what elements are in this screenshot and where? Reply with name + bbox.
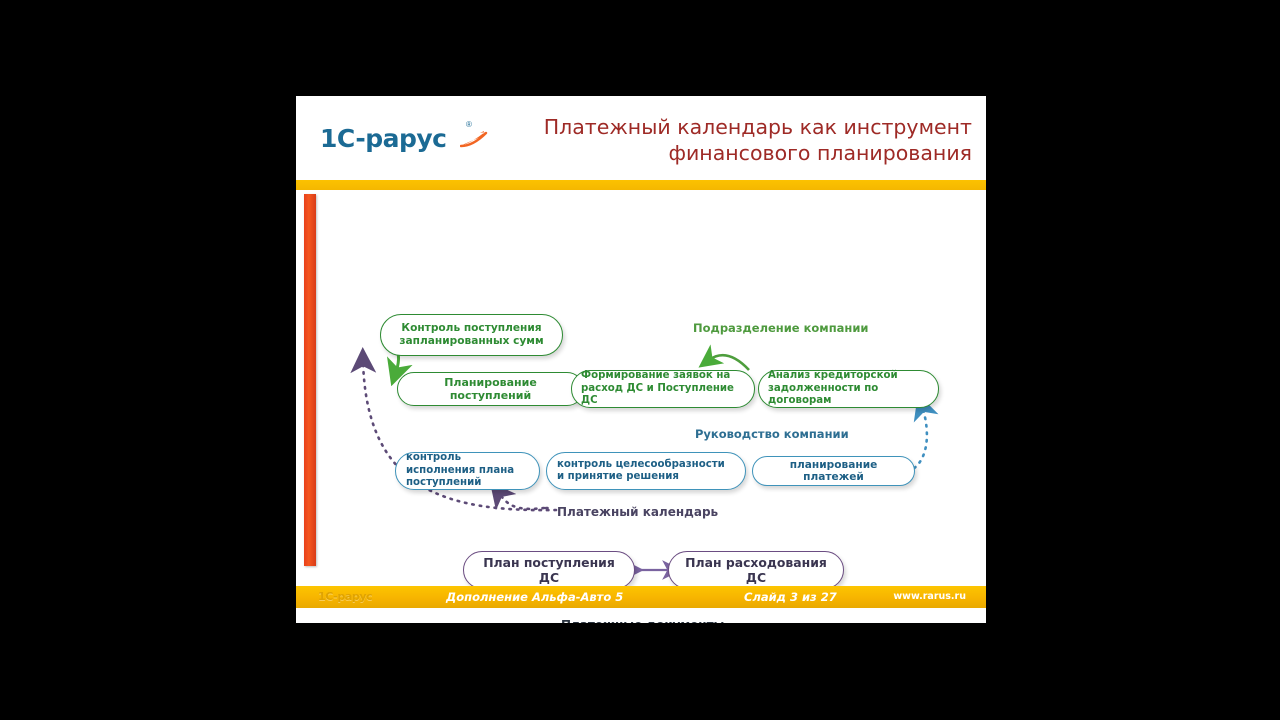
flow-diagram: Подразделение компании Руководство компа…	[296, 190, 986, 594]
group-label-subdivision: Подразделение компании	[693, 321, 868, 335]
logo-wordmark: 1C-рарус	[320, 124, 446, 153]
connector-green-left	[709, 355, 749, 370]
node-analysis-creditor-debt[interactable]: Анализ кредиторской задолженности по дог…	[758, 370, 939, 408]
node-label: контроль исполнения плана поступлений	[406, 452, 529, 490]
node-planning-receipts[interactable]: Планирование поступлений	[397, 372, 584, 406]
connector-purple-down	[498, 492, 544, 509]
node-label: План поступления ДС	[474, 555, 624, 585]
node-control-expediency[interactable]: контроль целесообразности и принятие реш…	[546, 452, 746, 490]
group-label-payment-calendar: Платежный календарь	[557, 505, 718, 519]
node-control-receipt-planned-sums[interactable]: Контроль поступления запланированных сум…	[380, 314, 563, 356]
footer-logo: 1C-рарус	[318, 590, 372, 603]
node-label: контроль целесообразности и принятие реш…	[557, 459, 735, 484]
footer-course-title: Дополнение Альфа-Авто 5	[446, 590, 623, 604]
node-planning-payments[interactable]: планирование платежей	[752, 456, 915, 486]
logo-registered-mark: ®	[466, 120, 472, 129]
node-plan-spending-ds[interactable]: План расходования ДС	[668, 551, 844, 589]
node-label: Планирование поступлений	[408, 376, 573, 402]
header-accent-bar	[296, 180, 986, 190]
logo-swoosh-icon	[460, 130, 488, 148]
video-stage: 1C-рарус ® Платежный календарь как инстр…	[0, 0, 1280, 720]
footer-url: www.rarus.ru	[893, 591, 966, 602]
rarus-logo: 1C-рарус ®	[318, 118, 493, 162]
page-title: Платежный календарь как инструмент финан…	[502, 114, 972, 166]
footer-slide-counter: Слайд 3 из 27	[744, 590, 837, 604]
group-label-management: Руководство компании	[695, 427, 849, 441]
node-label: планирование платежей	[763, 459, 904, 483]
node-label: Формирование заявок на расход ДС и Посту…	[581, 370, 745, 408]
presentation-slide: 1C-рарус ® Платежный календарь как инстр…	[296, 96, 986, 623]
group-label-payment-documents: Платежные документы	[561, 618, 724, 623]
node-plan-receipt-ds[interactable]: План поступления ДС	[463, 551, 635, 589]
node-control-plan-execution[interactable]: контроль исполнения плана поступлений	[395, 452, 540, 490]
slide-header: 1C-рарус ® Платежный календарь как инстр…	[296, 96, 986, 180]
node-label: План расходования ДС	[679, 555, 833, 585]
slide-footer: 1C-рарус Дополнение Альфа-Авто 5 Слайд 3…	[296, 586, 986, 608]
node-label: Анализ кредиторской задолженности по дог…	[768, 370, 929, 408]
node-forming-requests[interactable]: Формирование заявок на расход ДС и Посту…	[571, 370, 755, 408]
node-label: Контроль поступления запланированных сум…	[391, 322, 552, 349]
slide-body: Подразделение компании Руководство компа…	[296, 190, 986, 594]
